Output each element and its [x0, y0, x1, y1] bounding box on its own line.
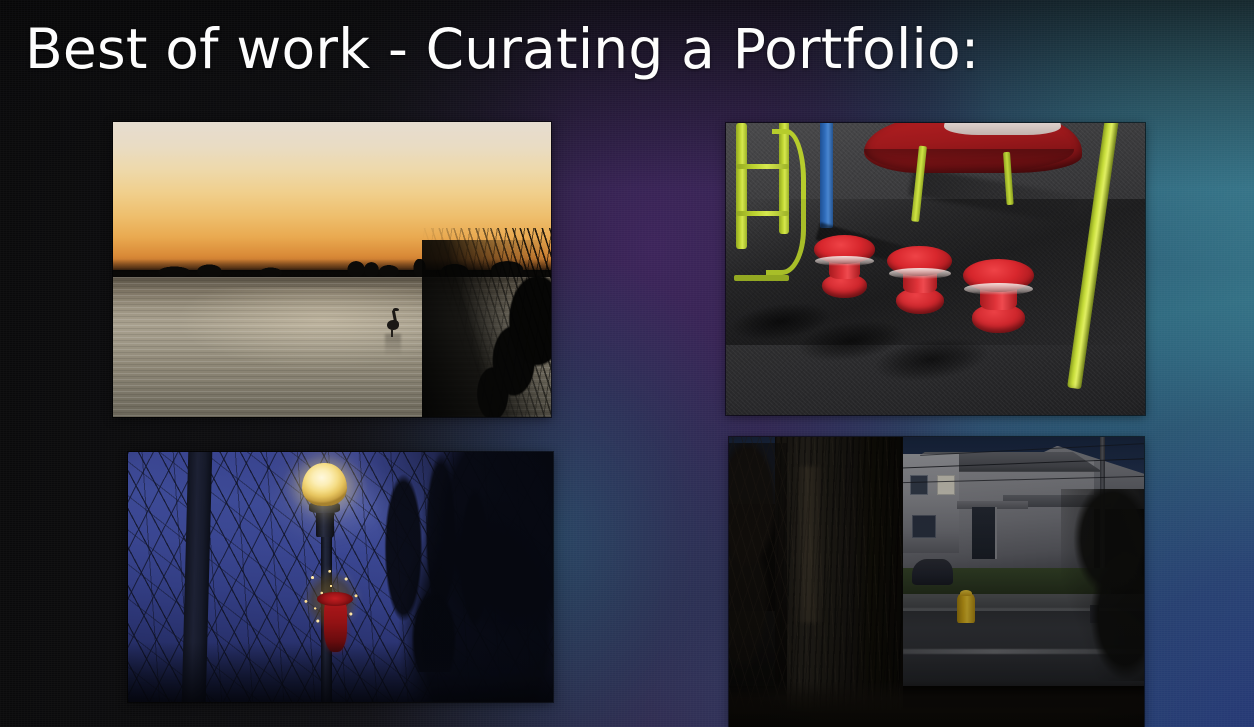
photo-lake-sunset-heron[interactable]	[113, 122, 551, 417]
playground-vignette	[726, 123, 1145, 415]
photo-lamppost-scene	[128, 452, 553, 702]
slide-canvas: Best of work - Curating a Portfolio:	[0, 0, 1254, 727]
photo-playground-scene	[726, 123, 1145, 415]
photo-lake-scene	[113, 122, 551, 417]
photo-lamppost-wreath-dusk[interactable]	[128, 452, 553, 702]
slide-title: Best of work - Curating a Portfolio:	[25, 18, 1205, 82]
photo-street-scene	[729, 437, 1144, 727]
street-vignette	[729, 437, 1144, 727]
lake-vignette	[113, 122, 551, 417]
lamppost-vignette	[128, 452, 553, 702]
photo-suburban-street-tree[interactable]	[729, 437, 1144, 727]
photo-playground-red-stools[interactable]	[726, 123, 1145, 415]
